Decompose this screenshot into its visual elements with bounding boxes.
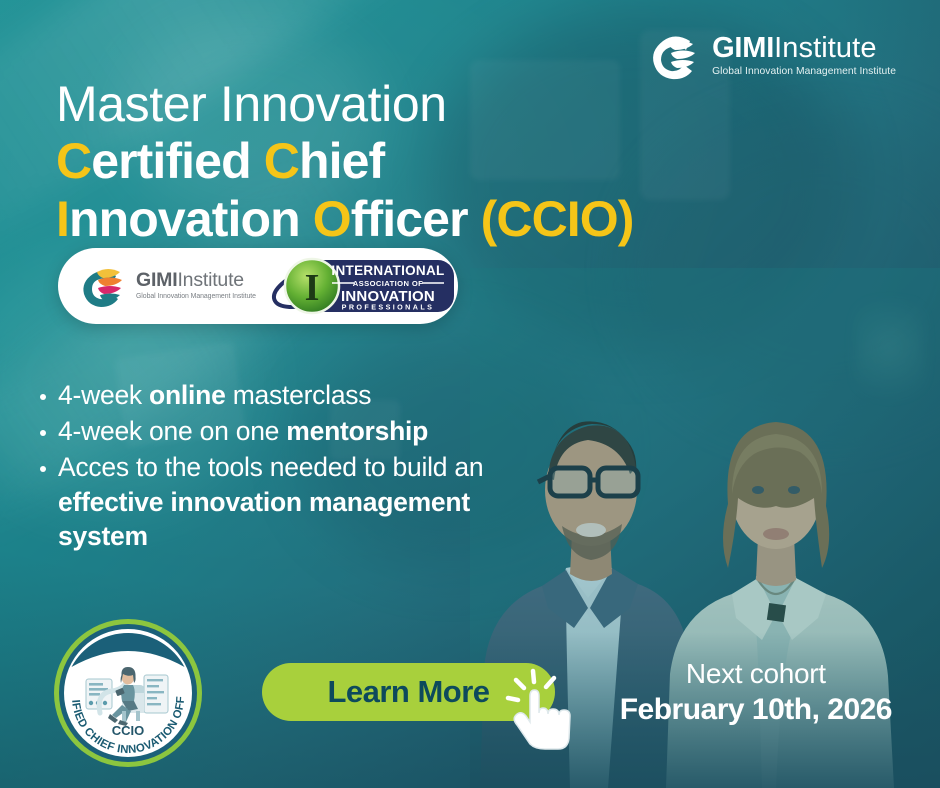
feature-list: 4-week online masterclass 4-week one on … [40,378,510,555]
header-tagline: Global Innovation Management Institute [712,67,896,77]
gimi-swirl-color-icon [76,262,128,310]
seal-banner-text: GIMI [111,652,146,669]
list-item: Acces to the tools needed to build an ef… [40,450,510,553]
list-item: 4-week one on one mentorship [40,414,510,448]
list-item-text: 4-week one on one mentorship [58,414,428,448]
headline-text: fficer [351,191,481,247]
promo-banner: GIMIInstitute Global Innovation Manageme… [0,0,940,788]
list-item-text: Acces to the tools needed to build an ef… [58,450,510,553]
header-brand-bold: GIMI [712,32,774,64]
cohort-label: Next cohort [620,657,892,690]
headline-cap-c1: C [56,133,91,189]
gimi-badge-brand: GIMIInstitute [136,271,256,291]
headline-cap-o: O [313,191,351,247]
svg-text:ASSOCIATION OF: ASSOCIATION OF [353,279,423,288]
headline-line-3: Innovation Officer (CCIO) [56,191,634,247]
gimi-swirl-icon [645,28,701,84]
next-cohort: Next cohort February 10th, 2026 [620,657,892,728]
header-logo: GIMIInstitute Global Innovation Manageme… [645,28,896,84]
accreditation-badges: GIMIInstitute Global Innovation Manageme… [58,248,458,324]
seal-abbr-text: CCIO [112,723,145,738]
learn-more-label: Learn More [327,674,489,710]
gimi-logo-color: GIMIInstitute Global Innovation Manageme… [58,262,256,310]
iaoip-badge: I INTERNATIONAL ASSOCIATION OF INNOVATIO… [270,255,456,317]
headline-cap-i: I [56,191,69,247]
headline-line-2: Certified Chief [56,133,634,189]
gimi-badge-bold: GIMI [136,269,177,291]
ccio-certification-seal: GIMI CCIO CERTIFIED CHI [52,617,204,769]
list-item: 4-week online masterclass [40,378,510,412]
gimi-badge-tagline: Global Innovation Management Institute [136,294,256,301]
header-brand-light: Institute [774,32,876,64]
svg-text:INTERNATIONAL: INTERNATIONAL [331,263,444,278]
learn-more-button[interactable]: Learn More [262,663,555,721]
bullet-dot-icon [40,466,46,472]
svg-text:PROFESSIONALS: PROFESSIONALS [342,303,435,312]
svg-text:I: I [305,267,320,309]
bullet-dot-icon [40,394,46,400]
headline-text: ertified [91,133,264,189]
headline: Master Innovation Certified Chief Innova… [56,78,634,247]
gimi-badge-light: Institute [177,269,244,291]
headline-acronym: (CCIO) [481,191,634,247]
header-brand: GIMIInstitute [712,34,896,63]
headline-text: nnovation [69,191,313,247]
bullet-dot-icon [40,430,46,436]
cohort-date: February 10th, 2026 [620,692,892,728]
headline-cap-c2: C [264,133,299,189]
headline-line-1: Master Innovation [56,78,634,131]
list-item-text: 4-week online masterclass [58,378,371,412]
headline-text: hief [299,133,384,189]
